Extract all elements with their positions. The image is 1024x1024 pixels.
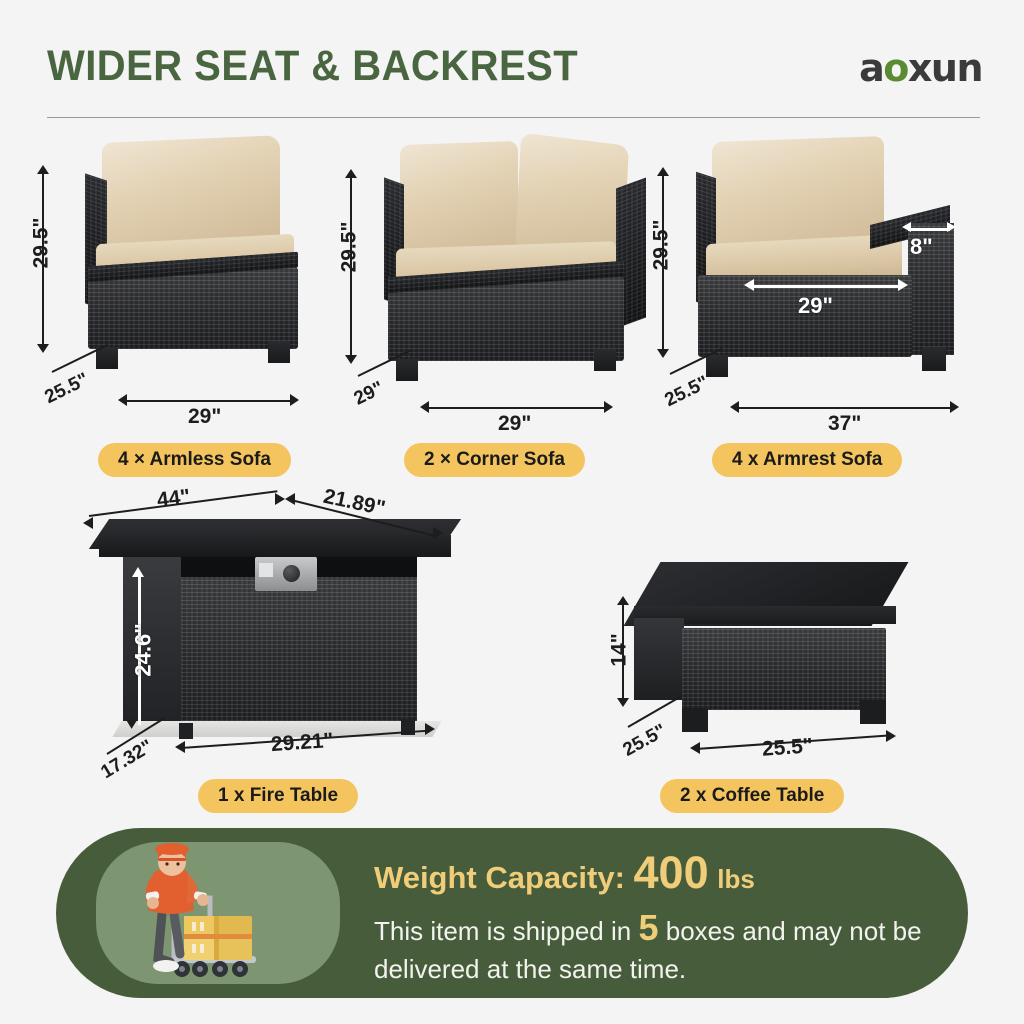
coffeetable-height-label: 14" bbox=[608, 633, 632, 666]
armrest-seatwidth-arrow-right bbox=[898, 279, 908, 291]
armrest-back-cushion bbox=[712, 136, 884, 252]
coffeetable-width-arrow-left bbox=[690, 742, 700, 754]
weight-capacity-value: 400 bbox=[634, 847, 709, 898]
armless-width-line bbox=[124, 400, 292, 402]
armrest-leg-right bbox=[922, 347, 946, 371]
armless-height-arrow-bottom bbox=[37, 344, 49, 353]
firetable-ignition-icon bbox=[259, 563, 273, 577]
corner-width-label: 29" bbox=[498, 412, 531, 436]
coffeetable-width-arrow-right bbox=[886, 730, 896, 742]
armrest-width-arrow-right bbox=[950, 401, 959, 413]
armless-width-label: 29" bbox=[188, 405, 221, 429]
armrest-armwidth-line bbox=[908, 228, 950, 231]
shipping-banner: Weight Capacity: 400 lbs This item is sh… bbox=[56, 828, 968, 998]
firetable-control-knob-icon bbox=[283, 565, 300, 582]
firetable-topwidth-arrow-right bbox=[275, 493, 285, 505]
firetable-height-arrow-top bbox=[132, 567, 144, 577]
coffeetable-leg-left bbox=[682, 708, 708, 732]
product-armrest-sofa: 29.5" 29" 8" 25.5" 37" bbox=[660, 135, 1006, 435]
armrest-height-arrow-top bbox=[657, 167, 669, 176]
armless-width-arrow-right bbox=[290, 394, 299, 406]
corner-height-label: 29.5" bbox=[337, 222, 361, 273]
product-armless-sofa: 29.5" 25.5" 29" bbox=[40, 135, 340, 435]
coffeetable-side-panel bbox=[634, 618, 684, 700]
pill-armless-sofa[interactable]: 4 × Armless Sofa bbox=[98, 443, 291, 477]
armrest-armwidth-label: 8" bbox=[910, 234, 933, 260]
brand-logo: aoxun bbox=[859, 46, 982, 90]
armrest-seatwidth-label: 29" bbox=[798, 293, 833, 319]
armrest-height-arrow-bottom bbox=[657, 349, 669, 358]
product-coffee-table: 14" 25.5" 25.5" bbox=[620, 558, 940, 768]
shipping-info-line: This item is shipped in 5 boxes and may … bbox=[374, 904, 949, 986]
armless-width-arrow-left bbox=[118, 394, 127, 406]
shipping-box-count: 5 bbox=[638, 907, 658, 948]
coffeetable-height-arrow-bottom bbox=[617, 698, 629, 707]
weight-capacity-line: Weight Capacity: 400 lbs bbox=[374, 850, 755, 896]
armrest-seatwidth-line bbox=[752, 285, 900, 288]
firetable-topwidth-arrow-left bbox=[83, 517, 93, 529]
infographic-page: WIDER SEAT & BACKREST aoxun 29.5" 25.5" … bbox=[0, 0, 1024, 1024]
corner-width-line bbox=[426, 407, 606, 409]
corner-width-arrow-right bbox=[604, 401, 613, 413]
logo-part-a: a bbox=[859, 46, 883, 90]
firetable-topdepth-arrow-left bbox=[285, 493, 295, 505]
shipping-text-before: This item is shipped in bbox=[374, 916, 631, 946]
delivery-man-icon bbox=[96, 842, 340, 984]
header-divider bbox=[47, 117, 980, 118]
pill-fire-table[interactable]: 1 x Fire Table bbox=[198, 779, 358, 813]
armrest-depth-label: 25.5" bbox=[662, 372, 713, 412]
firetable-basedepth-label: 17.32" bbox=[97, 736, 157, 784]
product-fire-table: 44" 21.89" 24.6" 17.32" 29.21" bbox=[95, 495, 495, 765]
corner-leg-right bbox=[594, 349, 616, 371]
armless-leg-right bbox=[268, 341, 290, 363]
firetable-front-panel bbox=[181, 571, 417, 733]
corner-back-cushion-left bbox=[400, 141, 518, 257]
firetable-top-edge bbox=[99, 535, 451, 557]
firetable-topwidth-label: 44" bbox=[156, 485, 192, 513]
pill-armrest-sofa[interactable]: 4 x Armrest Sofa bbox=[712, 443, 902, 477]
corner-height-arrow-bottom bbox=[345, 355, 357, 364]
firetable-basewidth-arrow-right bbox=[425, 723, 435, 735]
page-title: WIDER SEAT & BACKREST bbox=[47, 42, 578, 91]
armrest-height-label: 29.5" bbox=[649, 220, 673, 271]
corner-depth-label: 29" bbox=[351, 378, 388, 411]
header: WIDER SEAT & BACKREST aoxun bbox=[0, 34, 1024, 124]
coffeetable-leg-right bbox=[860, 700, 886, 724]
armrest-width-line bbox=[736, 407, 952, 409]
armrest-armwidth-arrow-left bbox=[902, 222, 911, 232]
armrest-width-label: 37" bbox=[828, 412, 861, 436]
armless-back-cushion bbox=[102, 135, 280, 251]
corner-leg-left bbox=[396, 359, 418, 381]
armrest-leg-left bbox=[706, 355, 728, 377]
firetable-height-label: 24.6" bbox=[131, 623, 157, 676]
weight-capacity-label: Weight Capacity: bbox=[374, 860, 625, 895]
armless-leg-left bbox=[96, 347, 118, 369]
pill-corner-sofa[interactable]: 2 × Corner Sofa bbox=[404, 443, 585, 477]
corner-width-arrow-left bbox=[420, 401, 429, 413]
coffeetable-width-label: 25.5" bbox=[761, 734, 813, 761]
firetable-basewidth-label: 29.21" bbox=[270, 729, 334, 757]
product-corner-sofa: 29.5" 29" 29" bbox=[348, 135, 668, 435]
logo-part-xun: xun bbox=[908, 46, 982, 90]
armless-depth-label: 25.5" bbox=[42, 369, 93, 409]
corner-height-arrow-top bbox=[345, 169, 357, 178]
delivery-illustration bbox=[96, 842, 340, 984]
firetable-basewidth-arrow-left bbox=[175, 741, 185, 753]
armless-height-label: 29.5" bbox=[29, 218, 53, 269]
pill-coffee-table[interactable]: 2 x Coffee Table bbox=[660, 779, 844, 813]
weight-capacity-unit: lbs bbox=[717, 864, 755, 894]
firetable-leg-left bbox=[179, 723, 193, 739]
armrest-armwidth-arrow-right bbox=[947, 222, 956, 232]
armrest-seatwidth-arrow-left bbox=[744, 279, 754, 291]
firetable-topdepth-arrow-right bbox=[433, 527, 443, 539]
armless-height-arrow-top bbox=[37, 165, 49, 174]
armrest-width-arrow-left bbox=[730, 401, 739, 413]
logo-part-o: o bbox=[883, 46, 908, 90]
coffeetable-height-arrow-top bbox=[617, 596, 629, 605]
coffeetable-front-panel bbox=[682, 628, 886, 710]
